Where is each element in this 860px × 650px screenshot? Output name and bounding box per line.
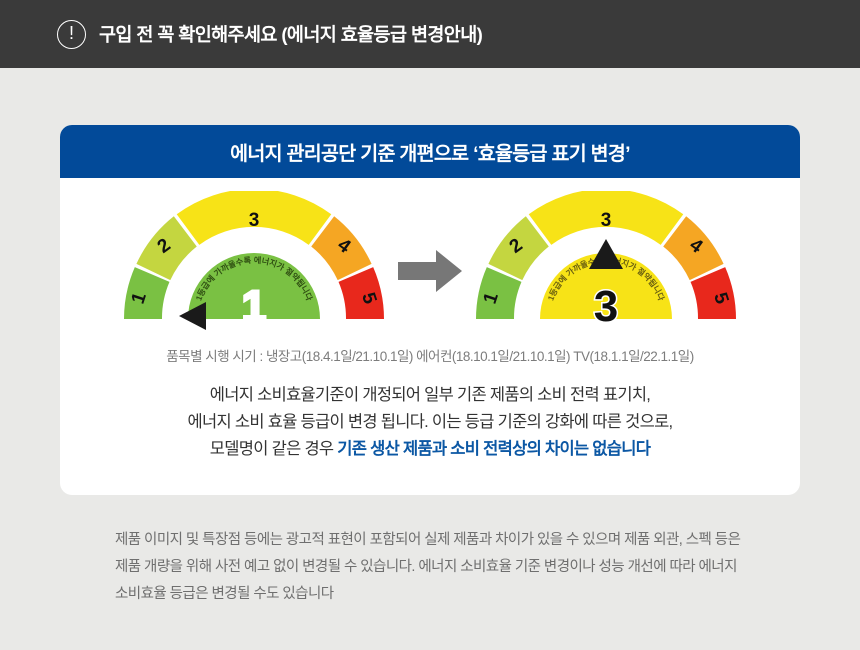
footer-line-3: 소비효율 등급은 변경될 수도 있습니다 (115, 581, 805, 608)
card-header-title: 에너지 관리공단 기준 개편으로 ‘효율등급 표기 변경’ (230, 137, 630, 166)
after-gauge-svg: 1 2 3 4 5 1등급에 가까울수록 에너지가 절약됩니다 (472, 191, 740, 331)
footer-disclaimer: 제품 이미지 및 특장점 등에는 광고적 표현이 포함되어 실제 제품과 차이가… (115, 527, 805, 608)
segment-label-3: 3 (601, 210, 612, 231)
body-line-1: 에너지 소비효율기준이 개정되어 일부 기존 제품의 소비 전력 표기치, (60, 382, 800, 409)
body-line-3: 모델명이 같은 경우 기존 생산 제품과 소비 전력상의 차이는 없습니다 (60, 436, 800, 463)
body-line-2: 에너지 소비 효율 등급이 변경 됩니다. 이는 등급 기준의 강화에 따른 것… (60, 409, 800, 436)
body-line-3-plain: 모델명이 같은 경우 (210, 440, 338, 458)
transition-arrow (388, 250, 472, 292)
before-gauge: 1 2 3 4 5 1등급에 가까울수록 에너지가 절약됩니다 1 (120, 191, 388, 331)
footer-line-1: 제품 이미지 및 특장점 등에는 광고적 표현이 포함되어 실제 제품과 차이가… (115, 527, 805, 554)
exclamation-mark: ! (69, 24, 74, 42)
exclamation-circle-icon: ! (57, 20, 86, 49)
card-header: 에너지 관리공단 기준 개편으로 ‘효율등급 표기 변경’ (60, 125, 800, 178)
body-line-3-highlight: 기존 생산 제품과 소비 전력상의 차이는 없습니다 (337, 440, 650, 458)
footer-line-2: 제품 개량을 위해 사전 예고 없이 변경될 수 있습니다. 에너지 소비효율 … (115, 554, 805, 581)
after-pointer-triangle (589, 239, 623, 269)
energy-grade-notice-card: 에너지 관리공단 기준 개편으로 ‘효율등급 표기 변경’ 1 2 (60, 125, 800, 495)
body-paragraph: 에너지 소비효율기준이 개정되어 일부 기존 제품의 소비 전력 표기치, 에너… (60, 382, 800, 463)
gauges-row: 1 2 3 4 5 1등급에 가까울수록 에너지가 절약됩니다 1 (60, 178, 800, 343)
banner-title: 구입 전 꼭 확인해주세요 (에너지 효율등급 변경안내) (99, 21, 482, 47)
schedule-fineprint: 품목별 시행 시기 : 냉장고(18.4.1일/21.10.1일) 에어컨(18… (60, 345, 800, 365)
before-gauge-svg: 1 2 3 4 5 1등급에 가까울수록 에너지가 절약됩니다 (120, 191, 388, 331)
right-arrow-icon (398, 250, 462, 292)
segment-label-3: 3 (249, 210, 260, 231)
after-gauge: 1 2 3 4 5 1등급에 가까울수록 에너지가 절약됩니다 3 (472, 191, 740, 331)
top-warning-banner: ! 구입 전 꼭 확인해주세요 (에너지 효율등급 변경안내) (0, 0, 860, 68)
